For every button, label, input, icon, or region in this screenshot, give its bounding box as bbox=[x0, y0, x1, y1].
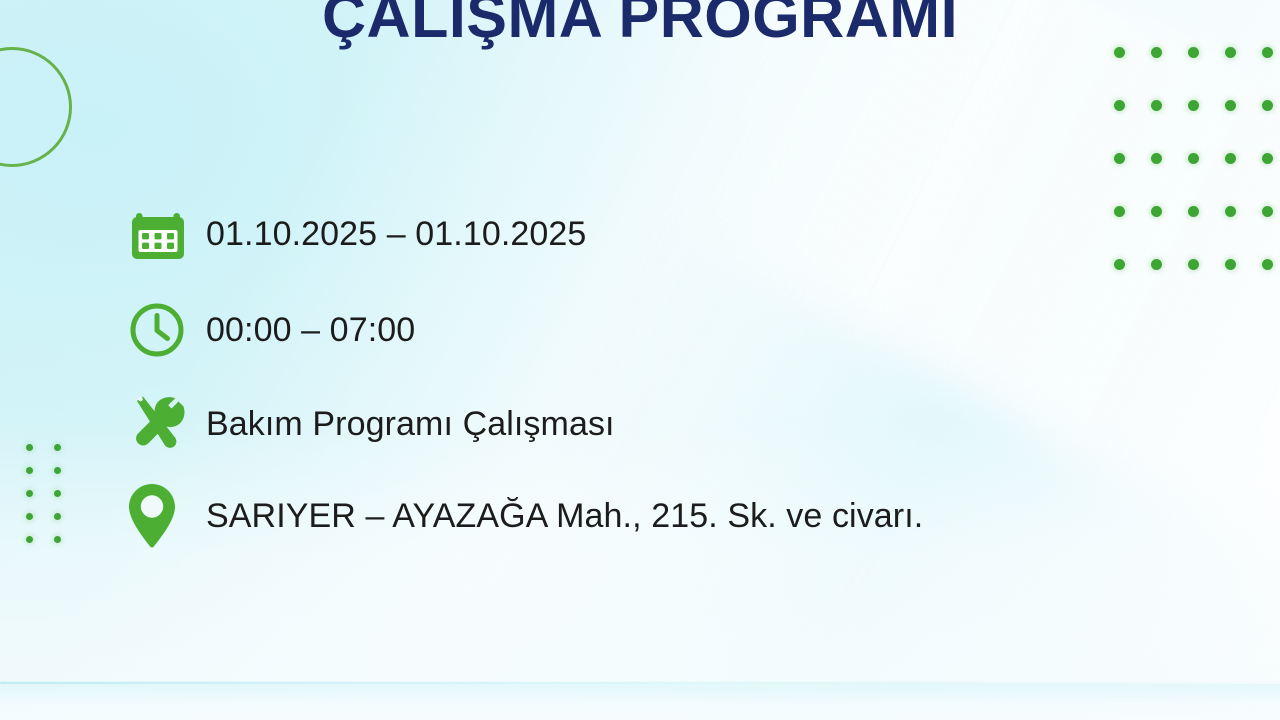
dot bbox=[26, 536, 33, 543]
dot bbox=[1225, 47, 1236, 58]
location-text: SARIYER – AYAZAĞA Mah., 215. Sk. ve civa… bbox=[206, 497, 923, 536]
dot bbox=[1262, 47, 1273, 58]
page-title: ÇALIŞMA PROGRAMI bbox=[0, 0, 1280, 47]
dot bbox=[1188, 153, 1199, 164]
time-range-text: 00:00 – 07:00 bbox=[206, 311, 415, 350]
detail-row-location: SARIYER – AYAZAĞA Mah., 215. Sk. ve civa… bbox=[128, 470, 1228, 562]
work-program-details: 01.10.2025 – 01.10.2025 00:00 – 07:00 Ba… bbox=[128, 186, 1228, 562]
decorative-dot-grid-left bbox=[15, 436, 71, 551]
dot bbox=[54, 490, 61, 497]
dot bbox=[54, 536, 61, 543]
dot bbox=[1188, 100, 1199, 111]
dot bbox=[26, 513, 33, 520]
tools-icon bbox=[128, 395, 206, 453]
dot bbox=[1262, 206, 1273, 217]
dot bbox=[1114, 153, 1125, 164]
detail-row-work-type: Bakım Programı Çalışması bbox=[128, 378, 1228, 470]
dot bbox=[1225, 153, 1236, 164]
detail-row-time: 00:00 – 07:00 bbox=[128, 282, 1228, 378]
dot bbox=[1262, 153, 1273, 164]
location-pin-icon bbox=[128, 483, 206, 549]
dot bbox=[1188, 47, 1199, 58]
dot bbox=[1114, 47, 1125, 58]
dot bbox=[54, 513, 61, 520]
dot bbox=[1151, 153, 1162, 164]
dot bbox=[1225, 100, 1236, 111]
dot bbox=[26, 444, 33, 451]
calendar-icon bbox=[128, 204, 206, 264]
date-range-text: 01.10.2025 – 01.10.2025 bbox=[206, 215, 586, 254]
dot bbox=[1114, 100, 1125, 111]
dot bbox=[1151, 100, 1162, 111]
dot bbox=[54, 444, 61, 451]
dot bbox=[1262, 100, 1273, 111]
dot bbox=[26, 490, 33, 497]
clock-icon bbox=[128, 301, 206, 359]
dot bbox=[1262, 259, 1273, 270]
dot bbox=[26, 467, 33, 474]
work-type-text: Bakım Programı Çalışması bbox=[206, 405, 615, 444]
detail-row-date: 01.10.2025 – 01.10.2025 bbox=[128, 186, 1228, 282]
dot bbox=[54, 467, 61, 474]
dot bbox=[1151, 47, 1162, 58]
background-bottom-band bbox=[0, 684, 1280, 720]
